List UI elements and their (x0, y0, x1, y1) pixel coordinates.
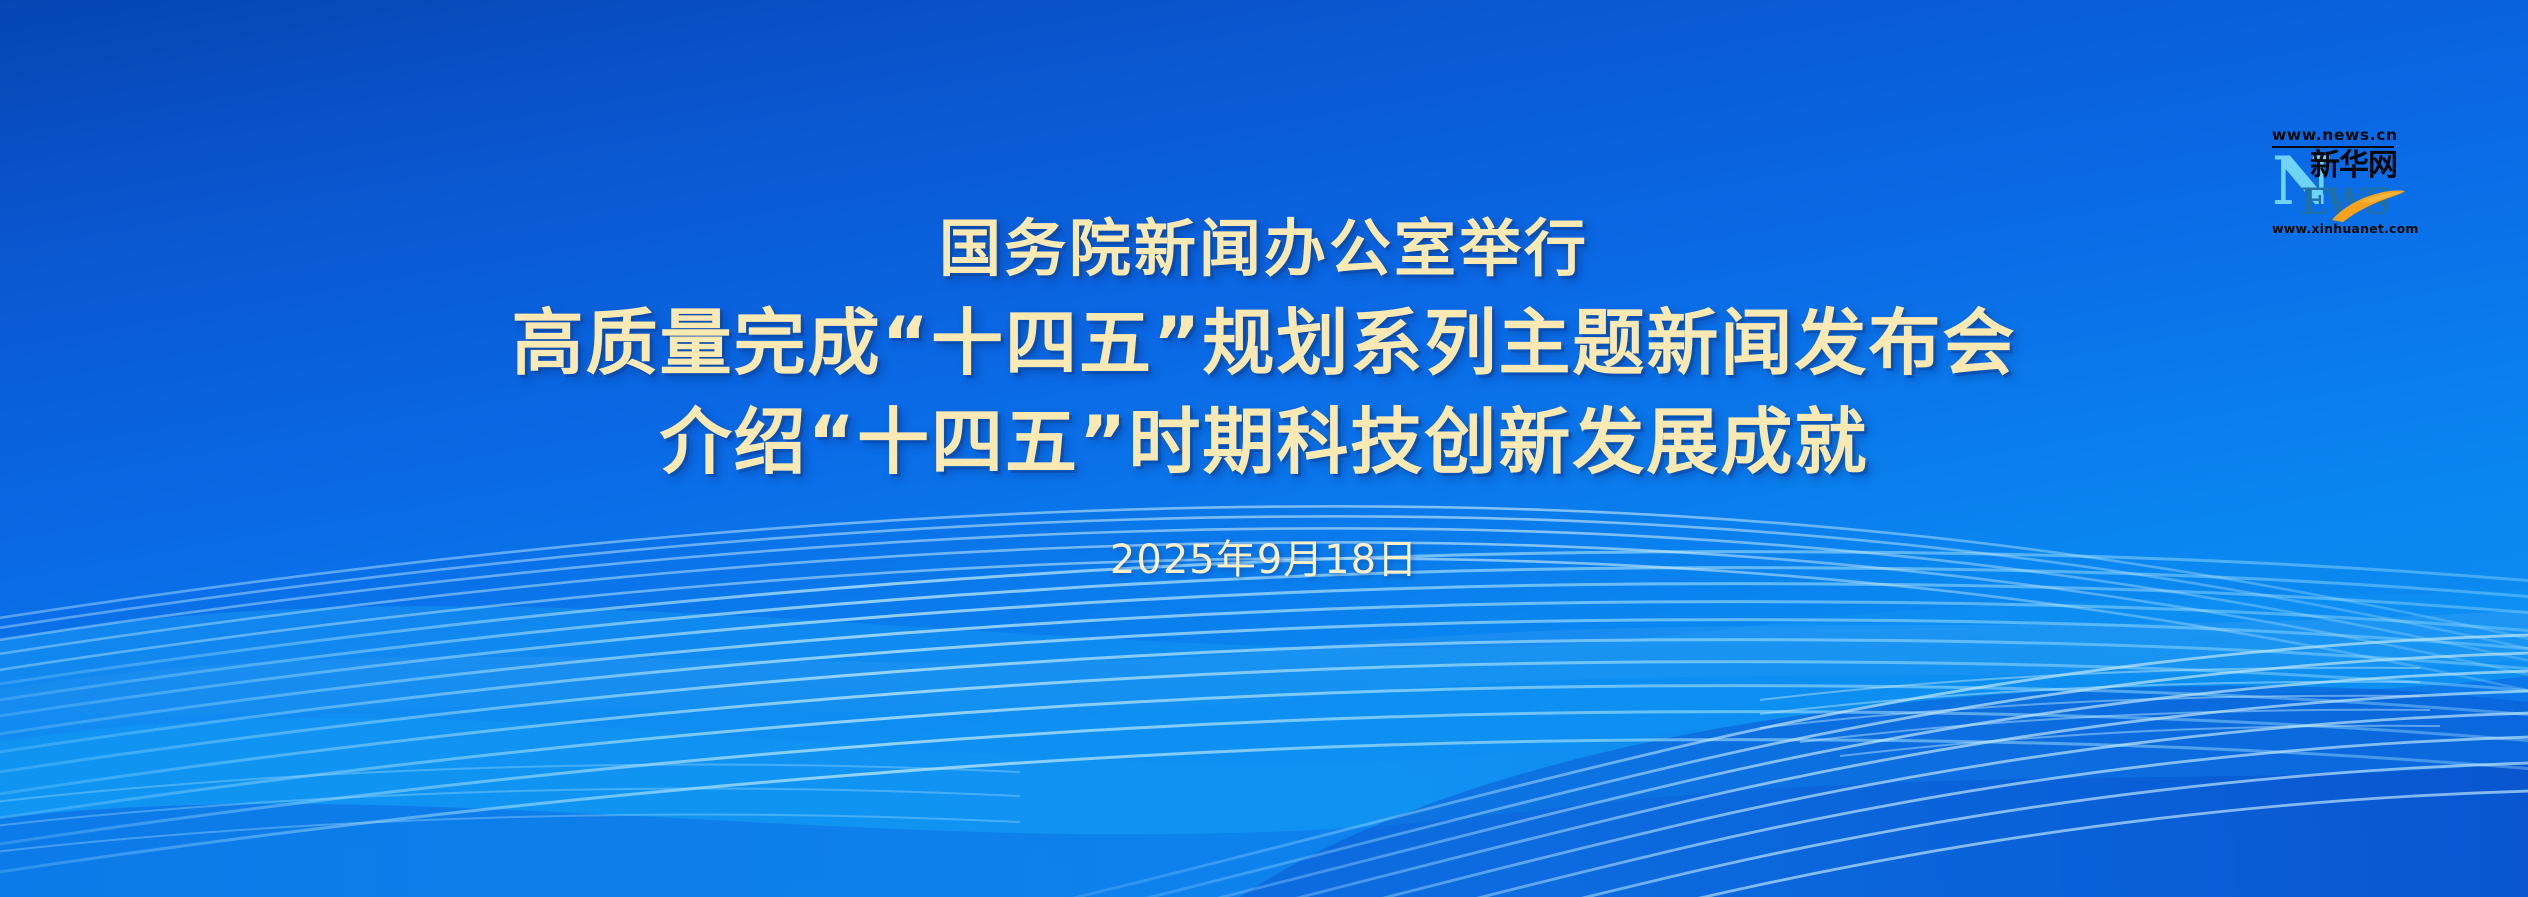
headline-line-2: 高质量完成“十四五”规划系列主题新闻发布会 (0, 301, 2528, 386)
logo-mark: N 新华网 EWS (2272, 148, 2404, 222)
headline-block: 国务院新闻办公室举行 高质量完成“十四五”规划系列主题新闻发布会 介绍“十四五”… (0, 214, 2528, 585)
headline-line-1: 国务院新闻办公室举行 (0, 214, 2528, 283)
event-date: 2025年9月18日 (0, 527, 2528, 585)
headline-line-3: 介绍“十四五”时期科技创新发展成就 (0, 400, 2528, 485)
logo-brand-chinese: 新华网 (2310, 151, 2397, 181)
press-conference-banner: www.news.cn N 新华网 EWS www.xinhuanet.com … (0, 0, 2528, 897)
